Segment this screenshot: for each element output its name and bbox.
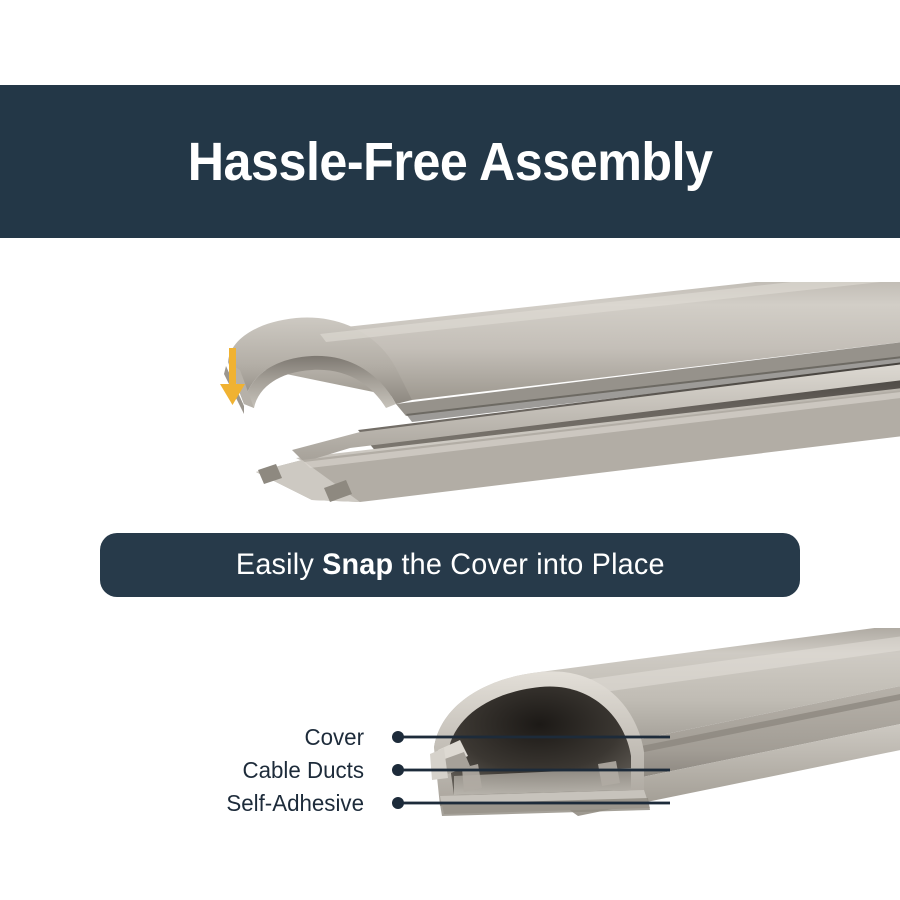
callout-self-adhesive: Self-Adhesive (150, 788, 670, 818)
callout-label-self-adhesive: Self-Adhesive (156, 788, 364, 818)
leader-line-self-adhesive (392, 788, 670, 818)
snap-text-before: Easily (236, 548, 322, 581)
callout-group: Cover Cable Ducts Self-Adhesive (150, 722, 670, 832)
callout-cable-ducts: Cable Ducts (150, 755, 670, 785)
callout-cover: Cover (150, 722, 670, 752)
hero-product-image (200, 282, 900, 507)
leader-line-cover (392, 722, 670, 752)
header-banner: Hassle-Free Assembly (0, 85, 900, 238)
callout-label-cover: Cover (156, 722, 364, 752)
snap-callout-banner: Easily Snap the Cover into Place (100, 533, 800, 597)
snap-callout-text: Easily Snap the Cover into Place (236, 548, 665, 582)
page-title: Hassle-Free Assembly (188, 135, 713, 189)
snap-text-after: the Cover into Place (393, 548, 664, 581)
snap-text-emphasis: Snap (322, 548, 393, 581)
leader-line-cable-ducts (392, 755, 670, 785)
infographic-canvas: Hassle-Free Assembly (0, 0, 900, 900)
down-arrow-icon (214, 348, 254, 406)
callout-label-cable-ducts: Cable Ducts (156, 755, 364, 785)
